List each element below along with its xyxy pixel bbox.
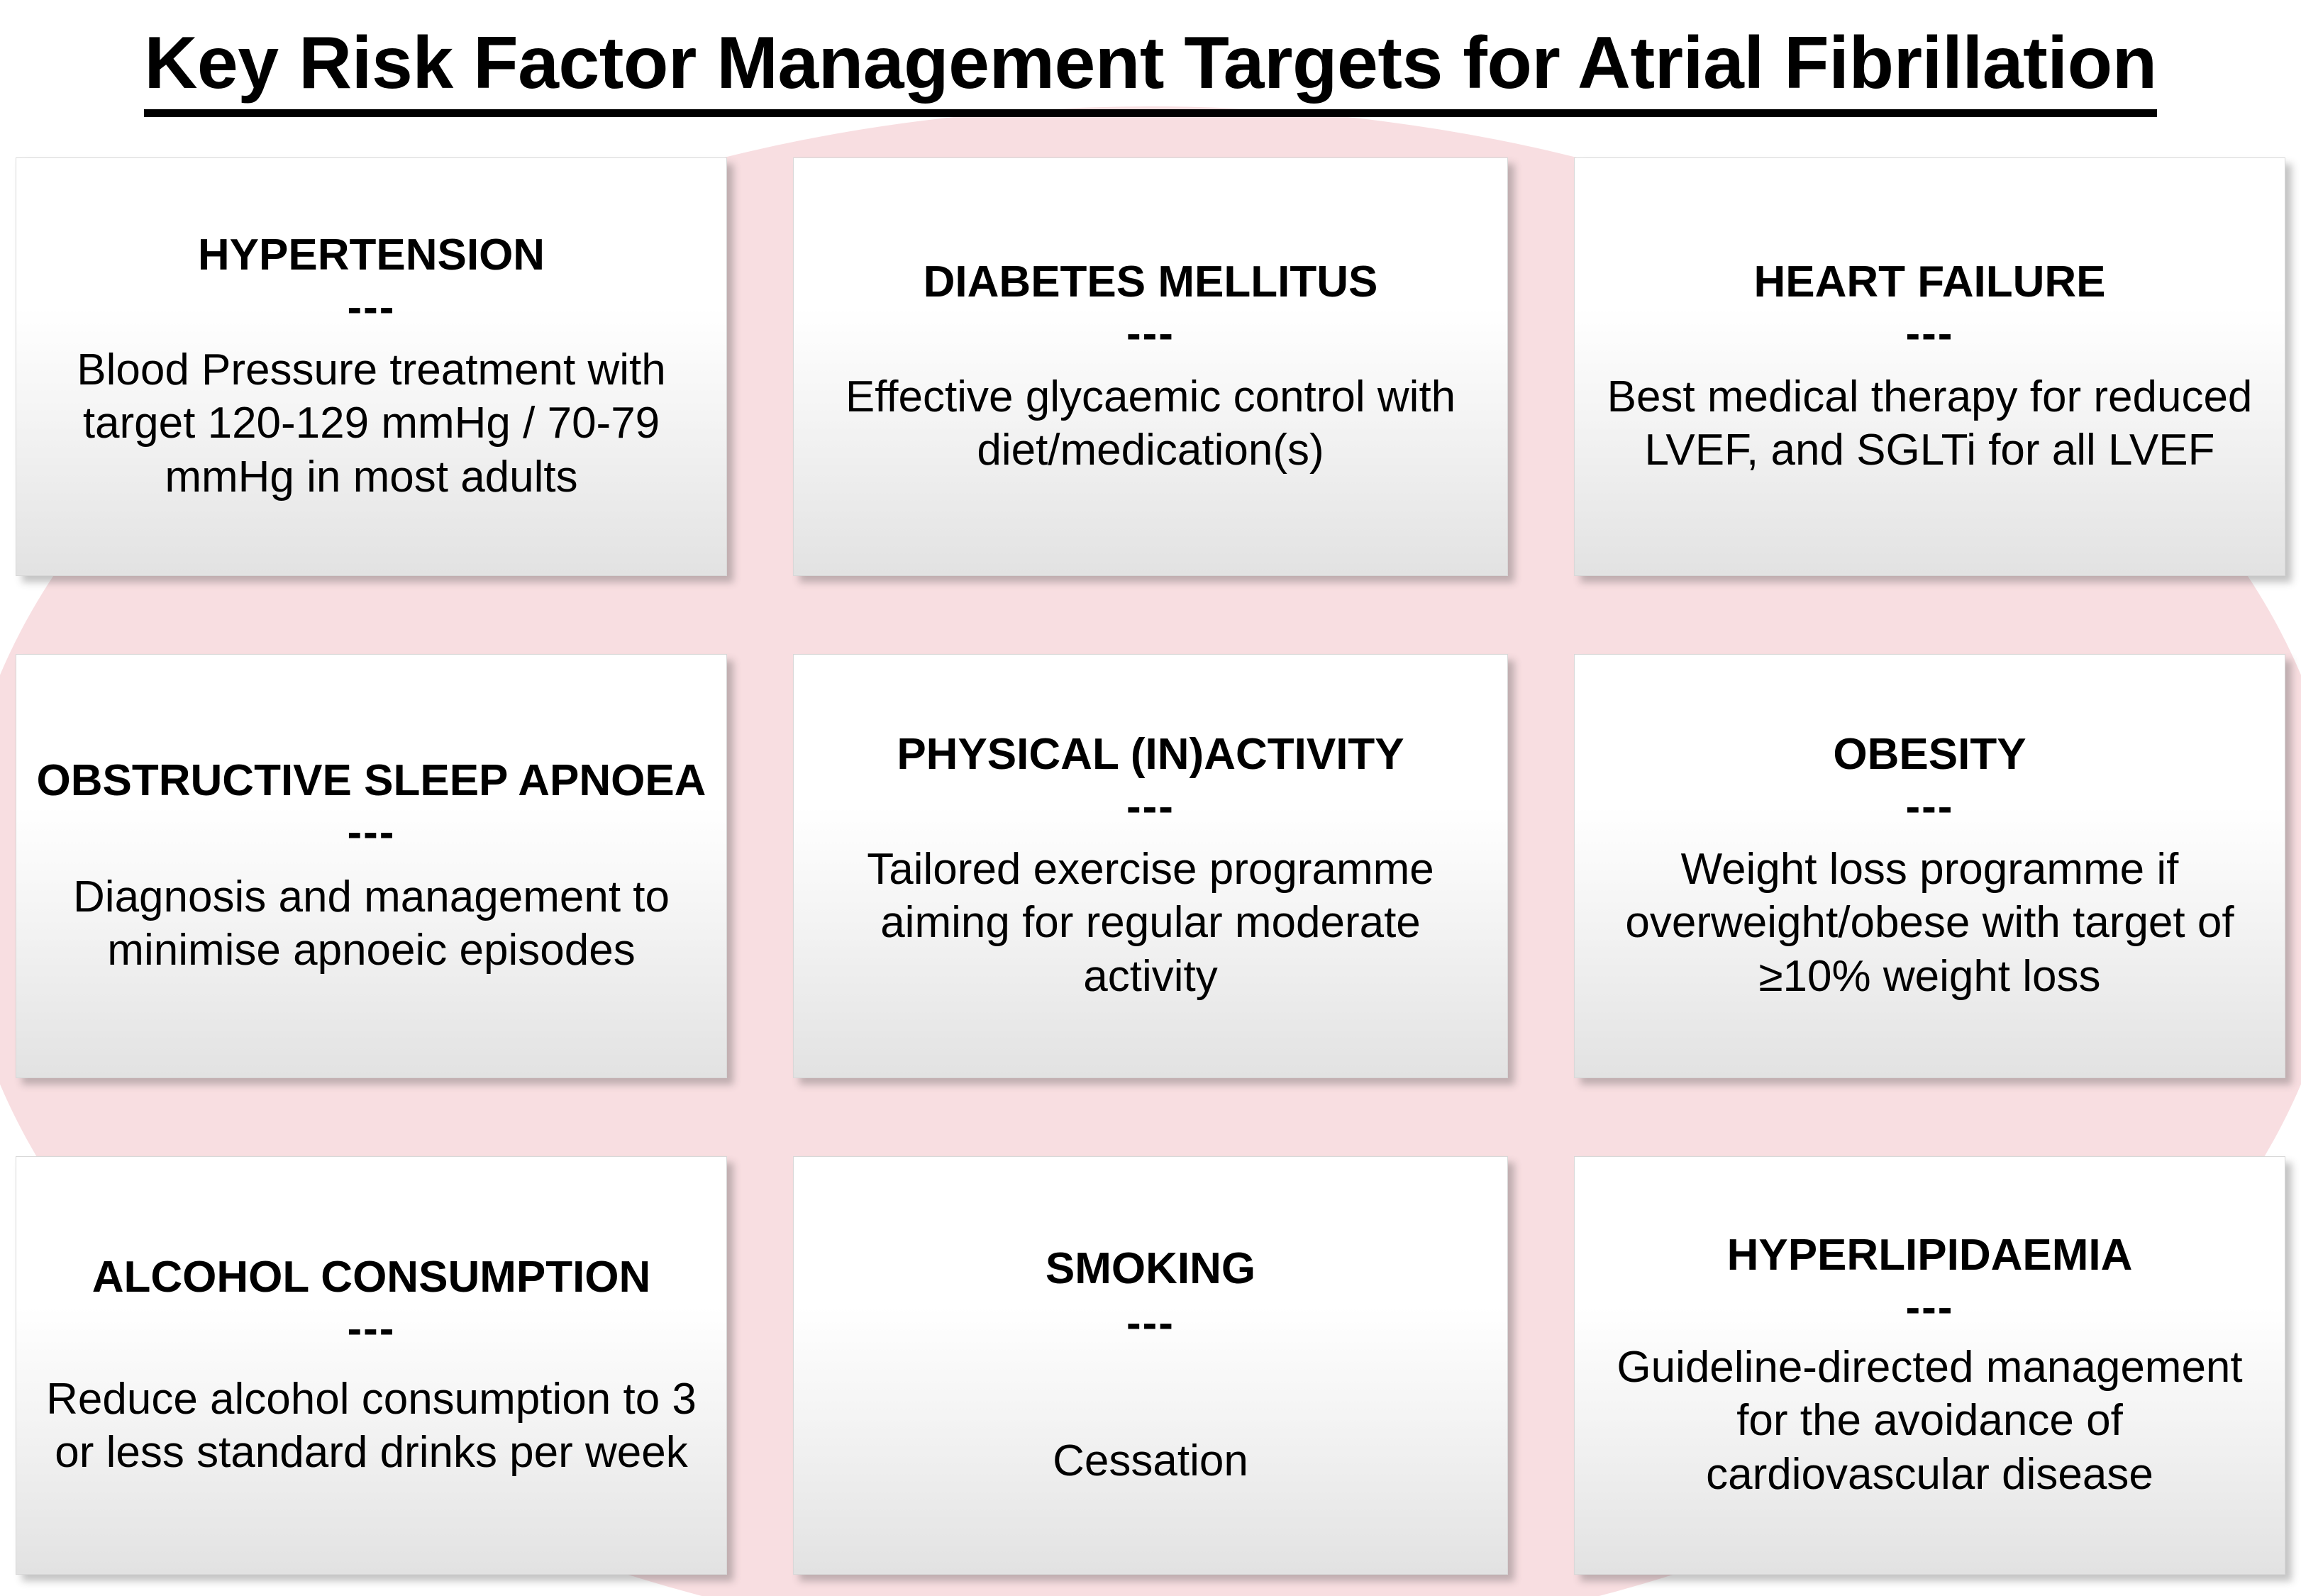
page-title: Key Risk Factor Management Targets for A… [0, 0, 2301, 142]
card-separator: --- [1906, 781, 1954, 833]
card-separator: --- [1126, 308, 1175, 360]
card-title: OBESITY [1833, 728, 2026, 780]
card-separator: --- [1126, 781, 1175, 833]
risk-factor-card-physical-inactivity[interactable]: PHYSICAL (IN)ACTIVITY --- Tailored exerc… [793, 654, 1508, 1078]
card-body: Reduce alcohol consumption to 3 or less … [32, 1373, 711, 1480]
card-title: ALCOHOL CONSUMPTION [92, 1251, 651, 1303]
risk-factor-card-heart-failure[interactable]: HEART FAILURE --- Best medical therapy f… [1574, 157, 2285, 576]
page-title-text: Key Risk Factor Management Targets for A… [144, 25, 2156, 117]
risk-factor-card-smoking[interactable]: SMOKING --- Cessation [793, 1156, 1508, 1575]
risk-factor-card-alcohol-consumption[interactable]: ALCOHOL CONSUMPTION --- Reduce alcohol c… [16, 1156, 727, 1575]
card-separator: --- [1126, 1297, 1175, 1349]
card-title: PHYSICAL (IN)ACTIVITY [897, 728, 1404, 780]
card-separator: --- [348, 282, 396, 333]
risk-factor-card-obstructive-sleep-apnoea[interactable]: OBSTRUCTIVE SLEEP APNOEA --- Diagnosis a… [16, 654, 727, 1078]
card-body: Weight loss programme if overweight/obes… [1590, 843, 2269, 1004]
card-body: Blood Pressure treatment with target 120… [32, 343, 711, 504]
card-body: Tailored exercise programme aiming for r… [809, 843, 1492, 1004]
infographic-page: Key Risk Factor Management Targets for A… [0, 0, 2301, 1596]
card-body: Guideline-directed management for the av… [1590, 1341, 2269, 1502]
risk-factor-card-obesity[interactable]: OBESITY --- Weight loss programme if ove… [1574, 654, 2285, 1078]
card-separator: --- [1906, 1282, 1954, 1334]
card-title: SMOKING [1046, 1243, 1255, 1295]
card-title: HYPERLIPIDAEMIA [1727, 1229, 2133, 1281]
card-separator: --- [1906, 308, 1954, 360]
card-title: DIABETES MELLITUS [924, 256, 1378, 308]
card-body: Diagnosis and management to minimise apn… [32, 870, 711, 977]
card-separator: --- [348, 807, 396, 858]
risk-factor-card-hyperlipidaemia[interactable]: HYPERLIPIDAEMIA --- Guideline-directed m… [1574, 1156, 2285, 1575]
card-body: Best medical therapy for reduced LVEF, a… [1590, 370, 2269, 477]
risk-factor-card-diabetes-mellitus[interactable]: DIABETES MELLITUS --- Effective glycaemi… [793, 157, 1508, 576]
risk-factor-card-grid: HYPERTENSION --- Blood Pressure treatmen… [16, 157, 2285, 1575]
card-separator: --- [348, 1303, 396, 1355]
card-body: Effective glycaemic control with diet/me… [809, 370, 1492, 477]
card-body: Cessation [1053, 1434, 1248, 1488]
card-title: OBSTRUCTIVE SLEEP APNOEA [37, 755, 706, 807]
card-title: HEART FAILURE [1754, 256, 2106, 308]
risk-factor-card-hypertension[interactable]: HYPERTENSION --- Blood Pressure treatmen… [16, 157, 727, 576]
card-title: HYPERTENSION [198, 229, 545, 281]
